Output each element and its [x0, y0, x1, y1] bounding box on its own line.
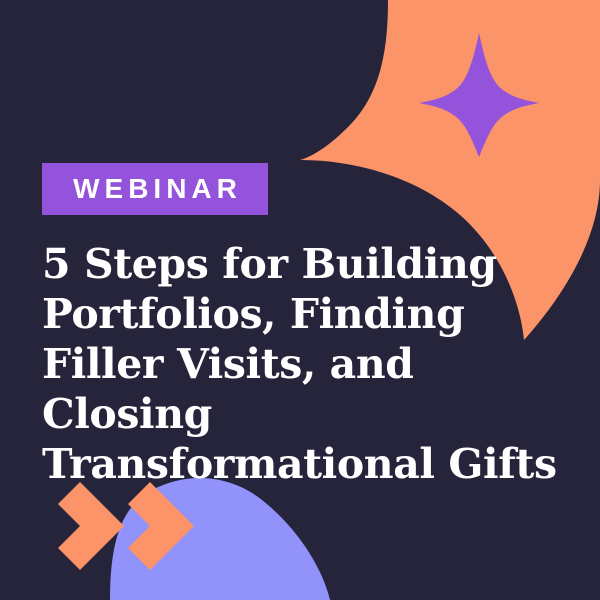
page-title: 5 Steps for Building Portfolios, Finding…: [42, 239, 572, 489]
card-content: WEBINAR 5 Steps for Building Portfolios,…: [0, 0, 600, 600]
webinar-promo-card: WEBINAR 5 Steps for Building Portfolios,…: [0, 0, 600, 600]
status-badge: WEBINAR: [42, 163, 268, 215]
badge-label: WEBINAR: [68, 175, 242, 203]
